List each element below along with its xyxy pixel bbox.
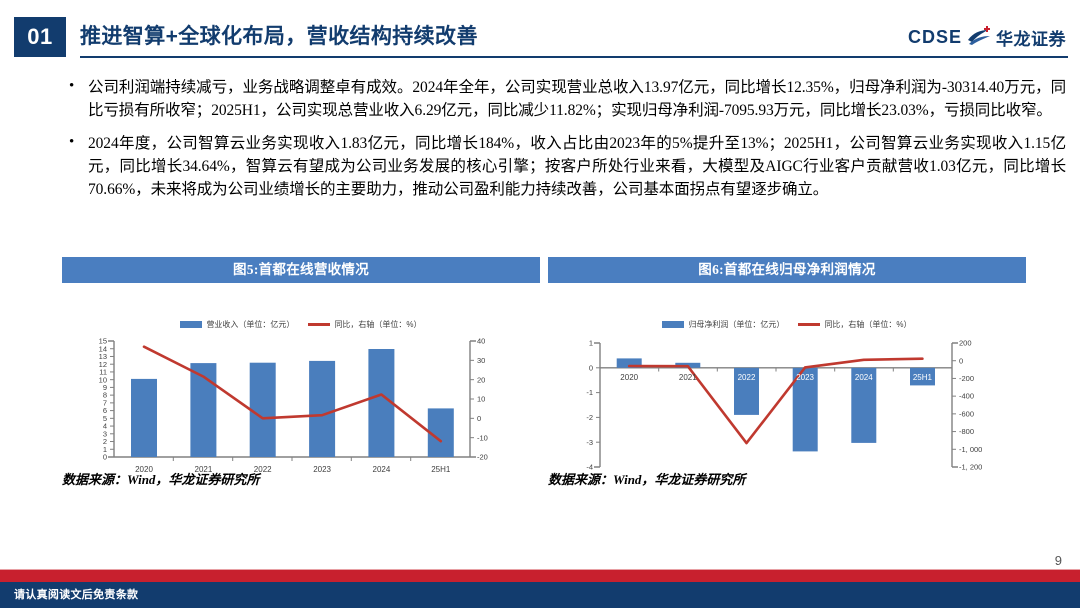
figure-panel-netprofit: 图6:首都在线归母净利润情况 归母净利润（单位：亿元） 同比，右轴（单位：%） (548, 257, 1026, 527)
legend-label: 归母净利润（单位：亿元） (688, 319, 784, 330)
footer-red-band (0, 570, 1080, 582)
legend-label: 营业收入（单位：亿元） (206, 319, 294, 330)
svg-text:-3: -3 (586, 438, 593, 447)
svg-text:2023: 2023 (796, 373, 814, 382)
bullet-item: 2024年度，公司智算云业务实现收入1.83亿元，同比增长184%，收入占比由2… (66, 132, 1066, 201)
netprofit-chart-svg: 10 -1-2 -3-4 2000 -200-400 -600- (548, 335, 1026, 487)
svg-text:2022: 2022 (738, 373, 756, 382)
chart-plot-netprofit: 10 -1-2 -3-4 2000 -200-400 -600- (548, 335, 1026, 487)
logo-text-en: CDSE (908, 27, 962, 48)
svg-text:-1, 200: -1, 200 (959, 463, 982, 472)
header-underline (80, 56, 1068, 58)
svg-text:25H1: 25H1 (913, 373, 933, 382)
svg-text:30: 30 (477, 356, 485, 365)
figure-panel-revenue: 图5:首都在线营收情况 营业收入（单位：亿元） 同比，右轴（单位：%） (62, 257, 540, 527)
figure-caption: 图6:首都在线归母净利润情况 (548, 257, 1026, 283)
svg-text:0: 0 (959, 356, 963, 365)
svg-text:2020: 2020 (620, 373, 638, 382)
legend-item-bar: 营业收入（单位：亿元） (180, 319, 294, 330)
svg-text:-2: -2 (586, 413, 593, 422)
legend-line-swatch-icon (798, 323, 820, 326)
svg-text:-800: -800 (959, 427, 974, 436)
svg-text:-10: -10 (477, 433, 488, 442)
svg-text:2024: 2024 (373, 465, 391, 474)
chart-plot-revenue: 1514 1312 1110 98 76 54 32 10 (62, 335, 540, 487)
bullet-item: 公司利润端持续减亏，业务战略调整卓有成效。2024年全年，公司实现营业总收入13… (66, 76, 1066, 122)
svg-text:0: 0 (103, 453, 107, 462)
chart-legend: 归母净利润（单位：亿元） 同比，右轴（单位：%） (548, 319, 1026, 330)
figure-source: 数据来源：Wind，华龙证券研究所 (548, 469, 745, 488)
svg-text:40: 40 (477, 337, 485, 346)
company-logo-icon (966, 25, 992, 49)
legend-bar-swatch-icon (662, 321, 684, 328)
footer-blue-band: 请认真阅读文后免责条款 (0, 582, 1080, 608)
svg-text:-600: -600 (959, 410, 974, 419)
svg-text:1: 1 (589, 339, 593, 348)
legend-label: 同比，右轴（单位：%） (824, 319, 911, 330)
body-bullet-list: 公司利润端持续减亏，业务战略调整卓有成效。2024年全年，公司实现营业总收入13… (66, 76, 1066, 211)
slide-page: 01 推进智算+全球化布局，营收结构持续改善 CDSE 华龙证券 公司利润端持续… (0, 0, 1080, 608)
page-title: 推进智算+全球化布局，营收结构持续改善 (80, 17, 478, 57)
legend-line-swatch-icon (308, 323, 330, 326)
footer-disclaimer: 请认真阅读文后免责条款 (14, 582, 138, 608)
chart-legend: 营业收入（单位：亿元） 同比，右轴（单位：%） (62, 319, 540, 330)
figure-body: 归母净利润（单位：亿元） 同比，右轴（单位：%） (548, 283, 1026, 490)
svg-text:2023: 2023 (313, 465, 331, 474)
svg-text:20: 20 (477, 375, 485, 384)
figure-caption: 图5:首都在线营收情况 (62, 257, 540, 283)
figure-source: 数据来源：Wind，华龙证券研究所 (62, 469, 259, 488)
legend-item-line: 同比，右轴（单位：%） (308, 319, 421, 330)
svg-text:-1: -1 (586, 388, 593, 397)
svg-text:-400: -400 (959, 392, 974, 401)
revenue-chart-svg: 1514 1312 1110 98 76 54 32 10 (62, 335, 540, 487)
legend-bar-swatch-icon (180, 321, 202, 328)
svg-text:2021: 2021 (679, 373, 697, 382)
slide-header: 01 推进智算+全球化布局，营收结构持续改善 CDSE 华龙证券 (0, 17, 1080, 57)
figure-body: 营业收入（单位：亿元） 同比，右轴（单位：%） (62, 283, 540, 490)
svg-text:0: 0 (589, 363, 593, 372)
legend-item-line: 同比，右轴（单位：%） (798, 319, 911, 330)
logo-text-cn: 华龙证券 (996, 25, 1066, 50)
svg-text:25H1: 25H1 (431, 465, 451, 474)
svg-text:10: 10 (477, 395, 485, 404)
svg-text:0: 0 (477, 414, 481, 423)
legend-label: 同比，右轴（单位：%） (334, 319, 421, 330)
brand-logo: CDSE 华龙证券 (908, 21, 1066, 53)
svg-text:-20: -20 (477, 453, 488, 462)
svg-text:200: 200 (959, 339, 972, 348)
page-number: 9 (1055, 553, 1062, 568)
section-number-badge: 01 (14, 17, 66, 57)
svg-text:2024: 2024 (855, 373, 873, 382)
svg-text:-200: -200 (959, 374, 974, 383)
legend-item-bar: 归母净利润（单位：亿元） (662, 319, 784, 330)
svg-text:-1, 000: -1, 000 (959, 445, 982, 454)
